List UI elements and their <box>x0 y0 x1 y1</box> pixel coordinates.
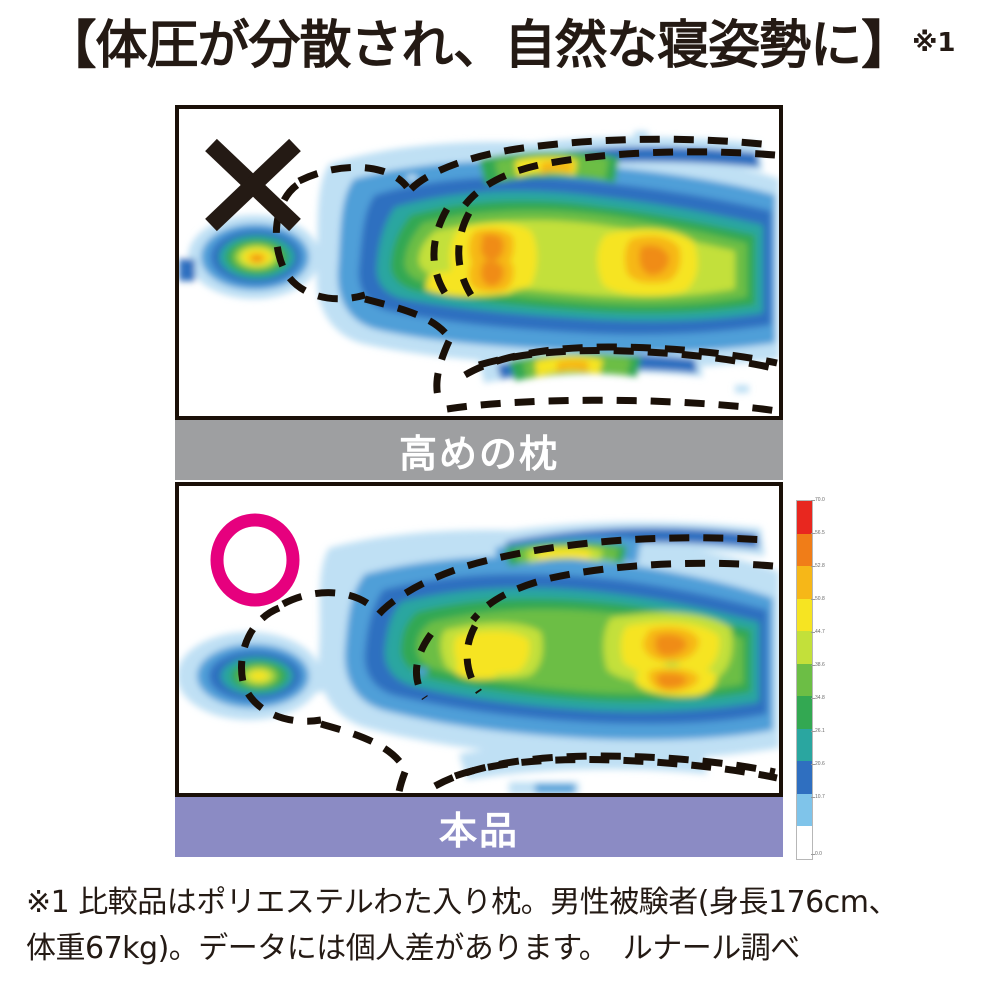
scale-tick-label: 10.7 <box>815 795 825 800</box>
scale-tick-label: 44.7 <box>815 630 825 635</box>
scale-band <box>797 696 812 729</box>
scale-band <box>797 826 812 859</box>
scale-tick-label: 56.5 <box>815 531 825 536</box>
pressure-figure: 高めの枕 <box>0 100 1000 880</box>
panel-caption-text: 本品 <box>439 800 519 855</box>
scale-tick-label: 50.8 <box>815 597 825 602</box>
panel-caption-this-product: 本品 <box>175 797 783 857</box>
page-title-footnote-ref: ※1 <box>912 28 955 58</box>
panel-high-pillow: 高めの枕 <box>175 105 783 480</box>
scale-tick-label: 0.0 <box>815 852 822 857</box>
circle-mark-icon <box>207 512 303 608</box>
scale-tick-label: 70.0 <box>815 498 825 503</box>
scale-band <box>797 631 812 664</box>
scale-band <box>797 761 812 794</box>
footnote-line-2: 体重67kg)。データには個人差があります。 ルナール調べ <box>26 926 976 972</box>
scale-color-bar <box>796 500 813 860</box>
scale-band <box>797 501 812 534</box>
scale-band <box>797 599 812 632</box>
pressure-map-frame-high <box>175 105 783 420</box>
scale-band <box>797 664 812 697</box>
scale-band <box>797 566 812 599</box>
footnote: ※1 比較品はポリエステルわた入り枕。男性被験者(身長176cm、 体重67kg… <box>26 880 976 972</box>
scale-tick-labels: 70.0 56.5 52.8 50.8 44.7 38.6 34.8 26.1 … <box>815 500 859 860</box>
scale-band <box>797 729 812 762</box>
scale-tick-label: 34.8 <box>815 696 825 701</box>
footnote-line-1: ※1 比較品はポリエステルわた入り枕。男性被験者(身長176cm、 <box>26 880 976 926</box>
page-title: 【体圧が分散され、自然な寝姿勢に】※1 <box>0 12 1000 77</box>
panel-this-product: 本品 <box>175 482 783 857</box>
scale-tick-label: 26.1 <box>815 729 825 734</box>
scale-tick-label: 20.6 <box>815 762 825 767</box>
pressure-map-frame-product <box>175 482 783 797</box>
panel-caption-high-pillow: 高めの枕 <box>175 420 783 480</box>
scale-tick-label: 38.6 <box>815 663 825 668</box>
panel-caption-text: 高めの枕 <box>399 423 559 478</box>
cross-mark-icon <box>201 137 305 233</box>
page-title-text: 【体圧が分散され、自然な寝姿勢に】 <box>45 16 913 76</box>
pressure-scale-legend: 70.0 56.5 52.8 50.8 44.7 38.6 34.8 26.1 … <box>790 490 860 875</box>
scale-band <box>797 534 812 567</box>
scale-tick-label: 52.8 <box>815 564 825 569</box>
scale-band <box>797 794 812 827</box>
page-root: 【体圧が分散され、自然な寝姿勢に】※1 <box>0 0 1000 1000</box>
